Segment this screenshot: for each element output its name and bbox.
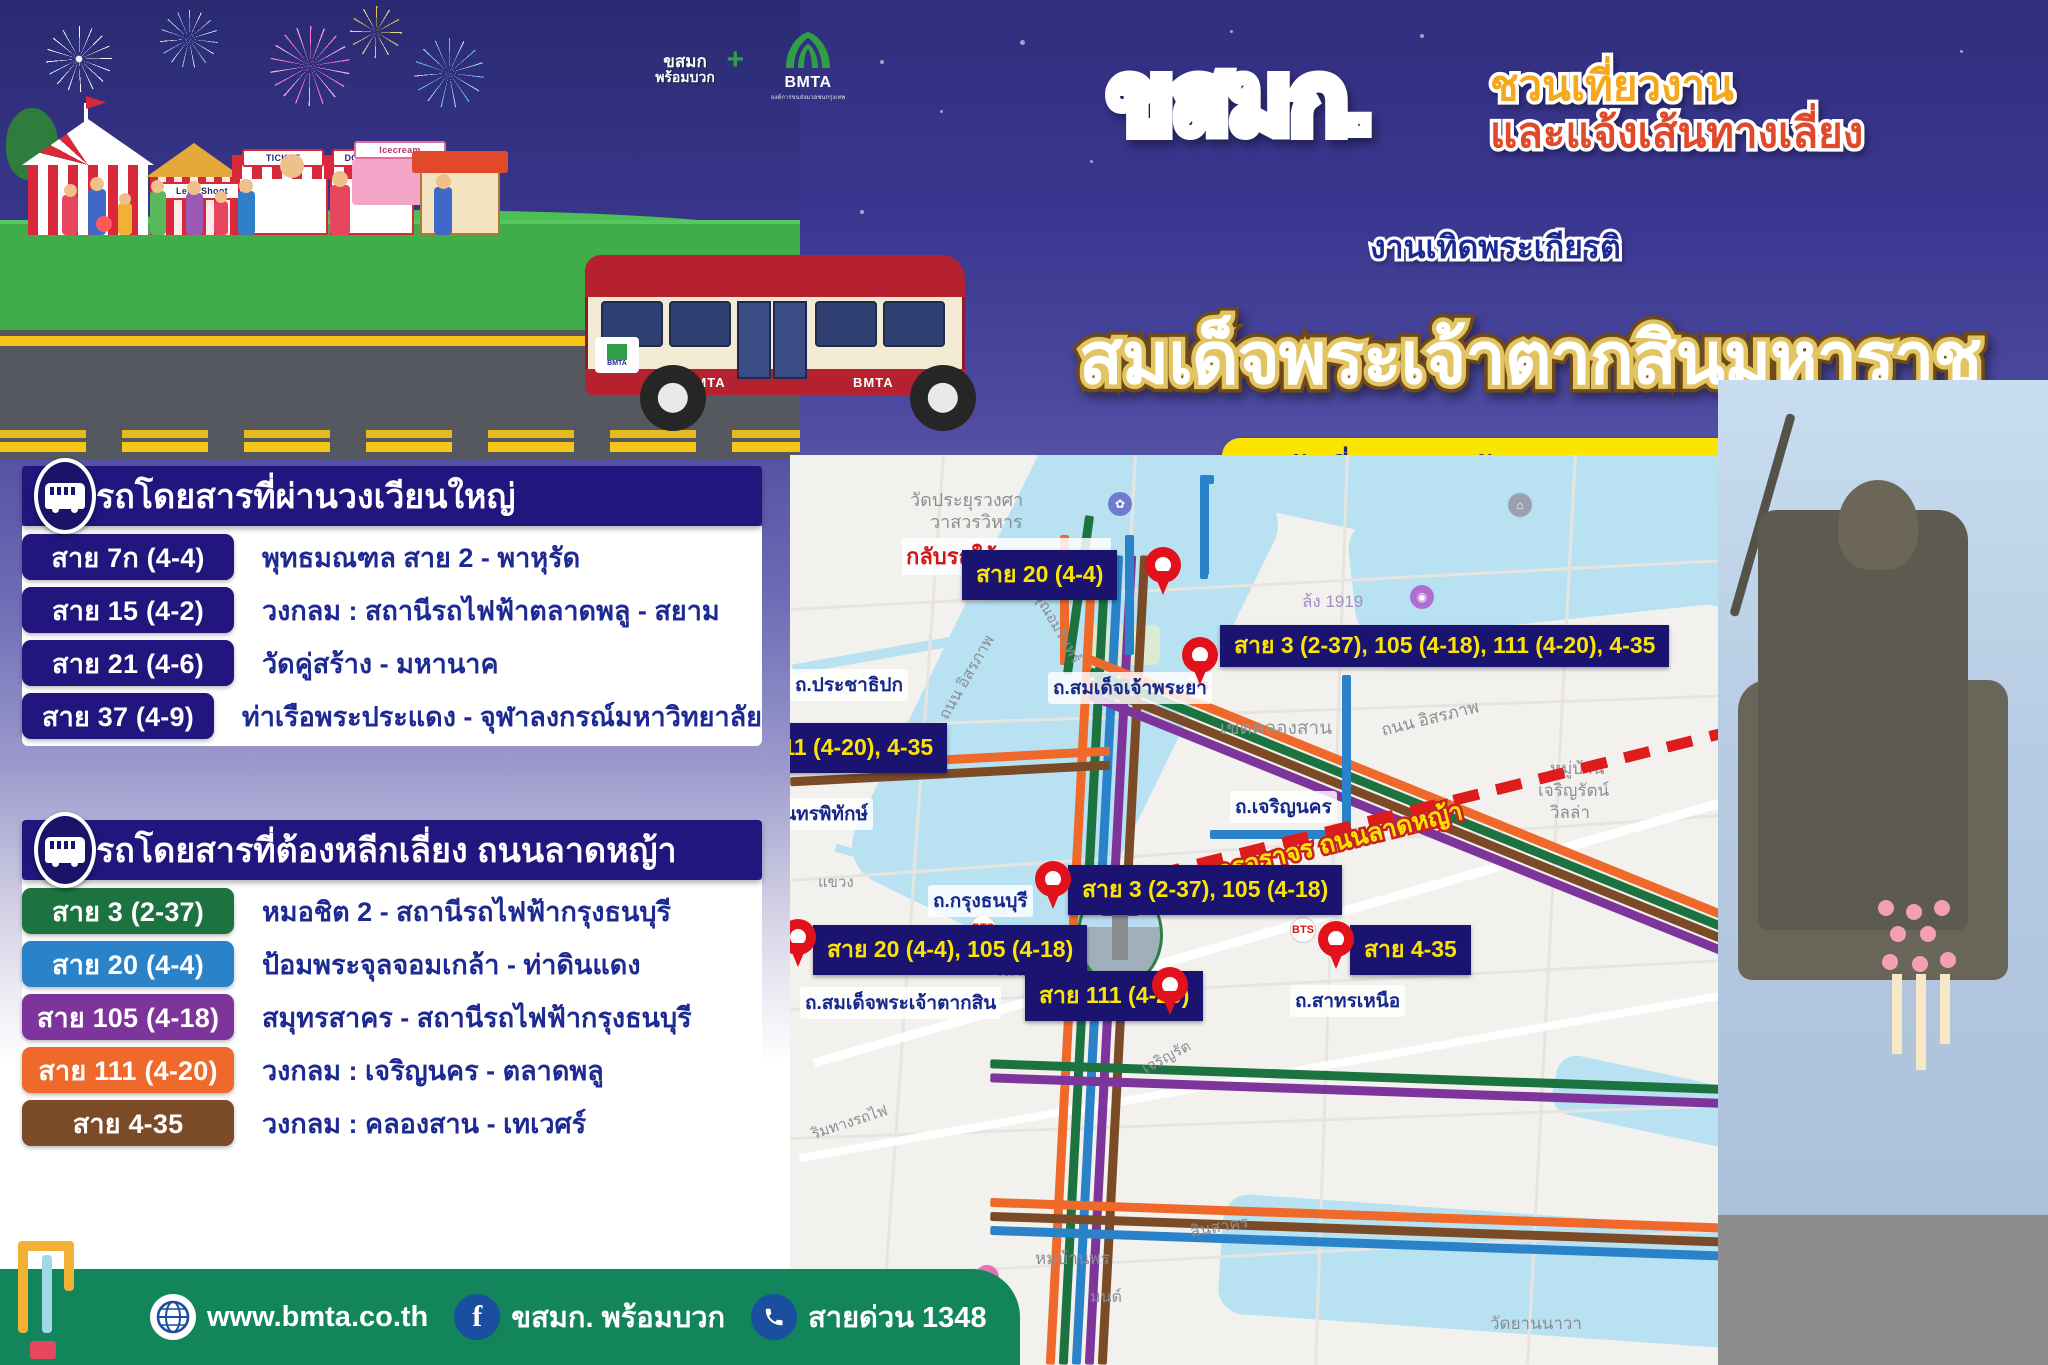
- bmta-emblem-icon: [778, 28, 838, 74]
- table-row[interactable]: สาย 4-35 วงกลม : คลองสาน - เทเวศร์: [22, 1099, 762, 1147]
- map-pin[interactable]: [1035, 861, 1071, 909]
- honor-subtitle: งานเทิดพระเกียรติ: [1370, 222, 1621, 273]
- route-tag: สาย 3 (2-37): [22, 888, 234, 934]
- table-row[interactable]: สาย 21 (4-6) วัดคู่สร้าง - มหานาค: [22, 639, 762, 687]
- khosomokok-plus-logo: ขสมก พร้อมบวก +: [630, 39, 740, 97]
- route-tag: สาย 20 (4-4): [22, 941, 234, 987]
- garland-decoration: [1868, 900, 1988, 1080]
- bmta-abbr: BMTA: [758, 74, 858, 92]
- table-row[interactable]: สาย 37 (4-9) ท่าเรือพระประแดง - จุฬาลงกร…: [22, 692, 762, 740]
- table-row[interactable]: สาย 15 (4-2) วงกลม : สถานีรถไฟฟ้าตลาดพลู…: [22, 586, 762, 634]
- table-row[interactable]: สาย 3 (2-37) หมอชิต 2 - สถานีรถไฟฟ้ากรุง…: [22, 887, 762, 935]
- headline-line1: ชวนเที่ยวงาน: [1490, 62, 2020, 109]
- footer-bar: www.bmta.co.th f ขสมก. พร้อมบวก สายด่วน …: [0, 1269, 1020, 1365]
- route-description: หมอชิต 2 - สถานีรถไฟฟ้ากรุงธนบุรี: [244, 888, 762, 934]
- panel-routes-avoid: รถโดยสารที่ต้องหลีกเลี่ยง ถนนลาดหญ้า สาย…: [22, 820, 762, 1153]
- brand-logos: ขสมก พร้อมบวก + BMTA องค์การขนส่งมวลชนกร…: [630, 28, 858, 108]
- panel-through-title: รถโดยสารที่ผ่านวงเวียนใหญ่: [96, 469, 515, 523]
- road-label: ถ.สมเด็จพระเจ้าตากสิน: [800, 987, 1001, 1019]
- poi-label: ริมทางรถไฟ: [808, 1098, 890, 1145]
- logo-sub: พร้อมบวก: [655, 70, 715, 84]
- poi-label: มนต์: [1090, 1285, 1122, 1310]
- route-description: สมุทรสาคร - สถานีรถไฟฟ้ากรุงธนบุรี: [244, 994, 762, 1040]
- route-tag: สาย 21 (4-6): [22, 640, 234, 686]
- map-badge[interactable]: สาย 3 (2-37), 105 (4-18): [1068, 865, 1342, 915]
- poi-label: วัดยานนาวา: [1490, 1310, 1582, 1337]
- bus-icon: [34, 458, 96, 534]
- route-blue-loop-r: [1200, 570, 1208, 579]
- route-description: พุทธมณฑล สาย 2 - พาหุรัด: [244, 534, 762, 580]
- map-pin[interactable]: [790, 919, 816, 967]
- poi-label: หมู่บ้านพร: [1035, 1245, 1110, 1272]
- footer-hotline[interactable]: สายด่วน 1348: [751, 1294, 987, 1340]
- route-tag: สาย 105 (4-18): [22, 994, 234, 1040]
- bus-icon: [34, 812, 96, 888]
- map-badge[interactable]: สาย 20 (4-4): [962, 550, 1117, 600]
- route-description: วงกลม : เจริญนคร - ตลาดพลู: [244, 1047, 762, 1093]
- headline-line2: และแจ้งเส้นทางเลี่ยง: [1490, 109, 2020, 156]
- footer-decoration: [18, 1225, 138, 1365]
- bmta-subtitle: องค์การขนส่งมวลชนกรุงเทพ: [758, 92, 858, 102]
- camera-icon: ◉: [1410, 585, 1434, 609]
- map-badge[interactable]: สาย 111 (4-20), 4-35: [790, 723, 947, 773]
- facebook-icon: f: [454, 1294, 500, 1340]
- route-description: ท่าเรือพระประแดง - จุฬาลงกรณ์มหาวิทยาลัย: [224, 693, 762, 739]
- footer-hotline-text: สายด่วน 1348: [808, 1294, 987, 1340]
- route-description: วัดคู่สร้าง - มหานาค: [244, 640, 762, 686]
- poi-label: วาสวรวิหาร: [930, 507, 1023, 536]
- road-label: ถ.เจริญนคร: [1230, 791, 1337, 823]
- footer-facebook[interactable]: f ขสมก. พร้อมบวก: [454, 1294, 725, 1340]
- map-badge[interactable]: สาย 4-35: [1350, 925, 1471, 975]
- poi-label: เขตคลองสาน: [1220, 713, 1332, 743]
- route-tag: สาย 111 (4-20): [22, 1047, 234, 1093]
- route-tag: สาย 15 (4-2): [22, 587, 234, 633]
- temple-icon: ✿: [1108, 492, 1132, 516]
- road-label: ถ.ประชาธิปก: [790, 669, 908, 701]
- poi-label: ล้ง 1919: [1302, 588, 1363, 615]
- poi-label: แขวง: [818, 870, 854, 894]
- table-row[interactable]: สาย 111 (4-20) วงกลม : เจริญนคร - ตลาดพล…: [22, 1046, 762, 1094]
- route-description: วงกลม : สถานีรถไฟฟ้าตลาดพลู - สยาม: [244, 587, 762, 633]
- table-row[interactable]: สาย 7ก (4-4) พุทธมณฑล สาย 2 - พาหุรัด: [22, 533, 762, 581]
- route-description: ป้อมพระจุลจอมเกล้า - ท่าดินแดง: [244, 941, 762, 987]
- poi-label: ถนน อิสรภาพ: [1378, 693, 1482, 743]
- poi-label: วิลล่า: [1550, 799, 1590, 826]
- map-badge-text: สาย 3 (2-37), 105 (4-18), 111 (4-20), 4-…: [1234, 632, 1655, 658]
- map-pin[interactable]: [1182, 637, 1218, 685]
- map-badge[interactable]: สาย 20 (4-4), 105 (4-18): [813, 925, 1087, 975]
- logo-name: ขสมก: [663, 53, 707, 70]
- route-blue-loop-v: [1200, 475, 1209, 575]
- panel-avoid-title: รถโดยสารที่ต้องหลีกเลี่ยง ถนนลาดหญ้า: [96, 823, 677, 877]
- bmta-bus-illustration: BMTA BMTA BMTA: [585, 255, 965, 395]
- panel-routes-through: รถโดยสารที่ผ่านวงเวียนใหญ่ สาย 7ก (4-4) …: [22, 466, 762, 746]
- map-pin[interactable]: [1318, 921, 1354, 969]
- table-row[interactable]: สาย 105 (4-18) สมุทรสาคร - สถานีรถไฟฟ้าก…: [22, 993, 762, 1041]
- route-blue-pin-up: [1342, 675, 1351, 835]
- road-label: ถ.สาทรเหนือ: [1290, 985, 1405, 1017]
- panel-avoid-header: รถโดยสารที่ต้องหลีกเลี่ยง ถนนลาดหญ้า: [22, 820, 762, 880]
- booth-food-cart: [420, 125, 500, 235]
- route-tag: สาย 7ก (4-4): [22, 534, 234, 580]
- panel-through-rows: สาย 7ก (4-4) พุทธมณฑล สาย 2 - พาหุรัด สา…: [22, 526, 762, 746]
- table-row[interactable]: สาย 20 (4-4) ป้อมพระจุลจอมเกล้า - ท่าดิน…: [22, 940, 762, 988]
- road-label: ถ.อินทรพิทักษ์: [790, 798, 873, 830]
- footer-facebook-text: ขสมก. พร้อมบวก: [511, 1294, 725, 1340]
- route-description: วงกลม : คลองสาน - เทเวศร์: [244, 1100, 762, 1146]
- route-tag: สาย 4-35: [22, 1100, 234, 1146]
- poster-canvas: Let's Shoot TICKET DOLL SHOP Icecream: [0, 0, 2048, 1365]
- map-pin[interactable]: [1145, 547, 1181, 595]
- phone-icon: [751, 1294, 797, 1340]
- bus-wheel-front: [640, 365, 706, 431]
- footer-website-text: www.bmta.co.th: [207, 1301, 428, 1334]
- route-blue-loop-h: [1200, 475, 1214, 484]
- globe-icon: [150, 1294, 196, 1340]
- bmta-logo: BMTA องค์การขนส่งมวลชนกรุงเทพ: [758, 28, 858, 108]
- map-pin[interactable]: [1152, 967, 1188, 1015]
- headline: ชวนเที่ยวงาน และแจ้งเส้นทางเลี่ยง: [1490, 62, 2020, 156]
- road-label: ถ.กรุงธนบุรี: [928, 885, 1033, 917]
- route-tag: สาย 37 (4-9): [22, 693, 214, 739]
- museum-icon: ⌂: [1508, 493, 1532, 517]
- bus-wheel-rear: [910, 365, 976, 431]
- brand-title: ขสมก.: [1108, 52, 1370, 148]
- panel-through-header: รถโดยสารที่ผ่านวงเวียนใหญ่: [22, 466, 762, 526]
- panel-avoid-rows: สาย 3 (2-37) หมอชิต 2 - สถานีรถไฟฟ้ากรุง…: [22, 880, 762, 1153]
- map-badge[interactable]: สาย 3 (2-37), 105 (4-18), 111 (4-20), 4-…: [1220, 625, 1669, 667]
- route-uturn-blue: [1125, 535, 1134, 655]
- bts-station-icon: BTS: [1290, 917, 1316, 943]
- king-taksin-statue-photo: [1718, 380, 2048, 1365]
- footer-website[interactable]: www.bmta.co.th: [150, 1294, 428, 1340]
